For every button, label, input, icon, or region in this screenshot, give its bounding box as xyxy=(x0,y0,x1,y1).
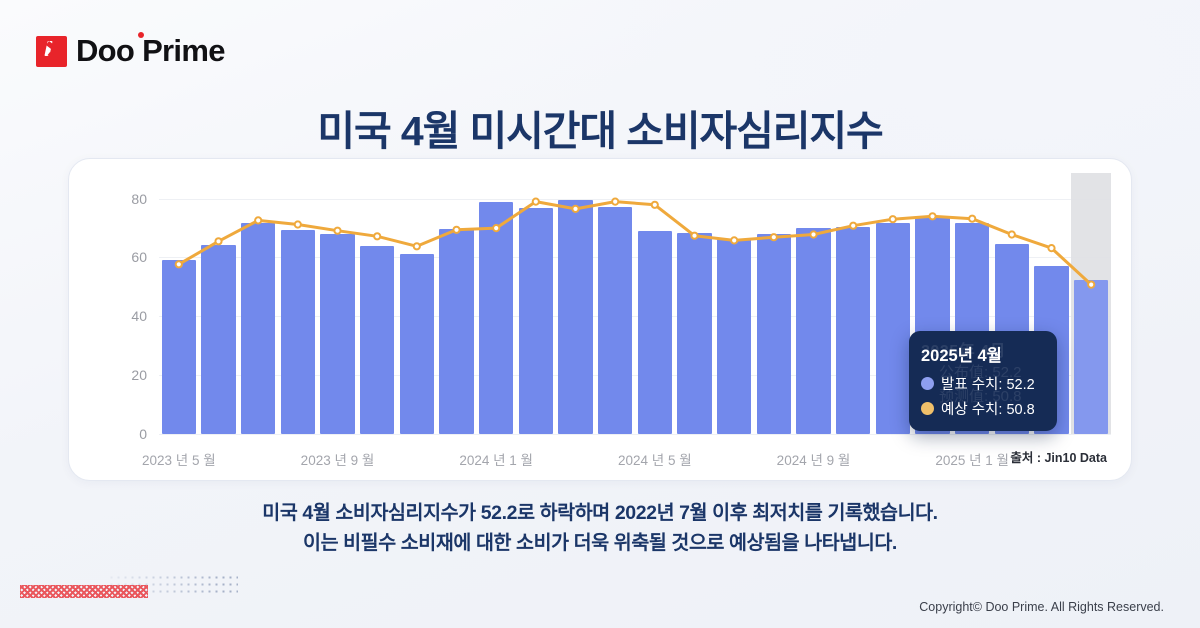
y-axis-tick-40: 40 xyxy=(87,308,147,324)
forecast-point-6 xyxy=(414,243,420,249)
caption-line-1: 미국 4월 소비자심리지수가 52.2로 하락하며 2022년 7월 이후 최저… xyxy=(0,498,1200,528)
bar-16[interactable] xyxy=(796,228,830,434)
bar-23[interactable] xyxy=(1074,280,1108,434)
bar-13[interactable] xyxy=(677,233,711,434)
x-axis-tick-0: 2023 년 5 월 xyxy=(142,449,216,469)
summary-caption: 미국 4월 소비자심리지수가 52.2로 하락하며 2022년 7월 이후 최저… xyxy=(0,498,1200,558)
bar-15[interactable] xyxy=(757,234,791,434)
y-axis-tick-0: 0 xyxy=(87,426,147,442)
bar-10[interactable] xyxy=(558,200,592,434)
bar-0[interactable] xyxy=(162,260,196,434)
tooltip-forecast-row: 예상 수치: 50.8 xyxy=(921,398,1044,419)
tooltip-forecast-label: 예상 수치: 50.8 xyxy=(941,398,1035,419)
gridline xyxy=(159,434,1111,435)
bar-14[interactable] xyxy=(717,239,751,434)
bar-6[interactable] xyxy=(400,254,434,434)
logo-accent-dot xyxy=(138,32,144,38)
chart-source: 출처 : Jin10 Data xyxy=(1010,447,1107,466)
forecast-point-4 xyxy=(334,228,340,234)
chart-card: 0204060802023 년 5 월2023 년 9 월2024 년 1 월2… xyxy=(68,158,1132,481)
bar-7[interactable] xyxy=(439,229,473,434)
forecast-point-5 xyxy=(374,233,380,239)
x-axis-tick-1: 2023 년 9 월 xyxy=(301,449,375,469)
bar-12[interactable] xyxy=(638,231,672,434)
y-axis-tick-80: 80 xyxy=(87,191,147,207)
tooltip-title: 2025년 4월 xyxy=(921,342,1044,366)
x-axis-tick-4: 2024 년 9 월 xyxy=(777,449,851,469)
decorative-dot-pattern xyxy=(20,574,240,606)
doo-prime-flag-icon xyxy=(36,36,67,67)
bar-5[interactable] xyxy=(360,246,394,434)
tooltip-actual-row: 발표 수치: 52.2 xyxy=(921,373,1044,394)
x-axis-tick-3: 2024 년 5 월 xyxy=(618,449,692,469)
tooltip-actual-label: 발표 수치: 52.2 xyxy=(941,373,1035,394)
tooltip-forecast-dot-icon xyxy=(921,402,934,415)
copyright-text: Copyright© Doo Prime. All Rights Reserve… xyxy=(919,600,1164,614)
x-axis-tick-5: 2025 년 1 월 xyxy=(935,449,1009,469)
y-axis-tick-60: 60 xyxy=(87,249,147,265)
tooltip-actual-dot-icon xyxy=(921,377,934,390)
chart-tooltip: 2025年 4月 公布值: 52.2 预测值: 50.8 2025년 4월 발표… xyxy=(909,331,1057,431)
bar-17[interactable] xyxy=(836,227,870,434)
brand-name-text: Doo Prime xyxy=(76,33,225,68)
bar-1[interactable] xyxy=(201,245,235,434)
bar-18[interactable] xyxy=(876,223,910,434)
bar-9[interactable] xyxy=(519,208,553,434)
forecast-point-3 xyxy=(295,221,301,227)
caption-line-2: 이는 비필수 소비재에 대한 소비가 더욱 위축될 것으로 예상됨을 나타냅니다… xyxy=(0,528,1200,558)
bar-4[interactable] xyxy=(320,234,354,434)
forecast-point-18 xyxy=(890,216,896,222)
forecast-point-20 xyxy=(969,216,975,222)
bar-3[interactable] xyxy=(281,230,315,434)
forecast-point-21 xyxy=(1009,231,1015,237)
forecast-point-12 xyxy=(652,202,658,208)
gridline xyxy=(159,199,1111,200)
bar-2[interactable] xyxy=(241,223,275,434)
bar-11[interactable] xyxy=(598,207,632,434)
page-title: 미국 4월 미시간대 소비자심리지수 xyxy=(0,97,1200,157)
bar-8[interactable] xyxy=(479,202,513,434)
chart-plot-area[interactable]: 0204060802023 년 5 월2023 년 9 월2024 년 1 월2… xyxy=(69,159,1133,482)
brand-name: Doo Prime xyxy=(76,33,225,69)
brand-logo: Doo Prime xyxy=(36,33,225,69)
forecast-point-1 xyxy=(215,238,221,244)
x-axis-tick-2: 2024 년 1 월 xyxy=(459,449,533,469)
y-axis-tick-20: 20 xyxy=(87,367,147,383)
forecast-point-22 xyxy=(1048,245,1054,251)
